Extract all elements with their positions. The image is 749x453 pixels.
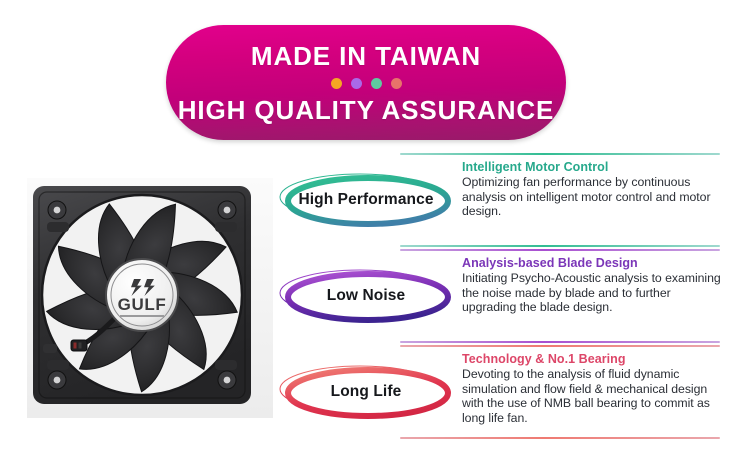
dot-teal-icon xyxy=(371,78,382,89)
badge-ellipse-icon xyxy=(278,171,454,229)
card-divider-top xyxy=(400,345,720,347)
feature-heading: Intelligent Motor Control xyxy=(462,160,726,174)
fan-illustration: GULF xyxy=(27,178,273,418)
product-fan-image: GULF xyxy=(27,178,273,418)
feature-body: Optimizing fan performance by continuous… xyxy=(462,175,726,219)
feature-copy: Analysis-based Blade Design Initiating P… xyxy=(462,256,726,315)
feature-copy: Technology & No.1 Bearing Devoting to th… xyxy=(462,352,726,425)
feature-heading: Analysis-based Blade Design xyxy=(462,256,726,270)
feature-card: High Performance Intelligent Motor Contr… xyxy=(278,153,730,249)
dot-amber-icon xyxy=(331,78,342,89)
feature-body: Devoting to the analysis of fluid dynami… xyxy=(462,367,726,425)
feature-heading: Technology & No.1 Bearing xyxy=(462,352,726,366)
feature-card-list: High Performance Intelligent Motor Contr… xyxy=(278,153,730,445)
card-divider-top xyxy=(400,249,720,251)
card-divider-bottom xyxy=(400,437,720,439)
card-divider-bottom xyxy=(400,341,720,343)
feature-badge[interactable]: Low Noise xyxy=(278,267,454,325)
poster-canvas: MADE IN TAIWAN HIGH QUALITY ASSURANCE xyxy=(0,0,749,453)
dot-salmon-icon xyxy=(391,78,402,89)
banner-dot-row xyxy=(331,78,402,89)
feature-card: Long Life Technology & No.1 Bearing Devo… xyxy=(278,345,730,441)
feature-card: Low Noise Analysis-based Blade Design In… xyxy=(278,249,730,345)
fan-brand-text: GULF xyxy=(118,295,167,314)
feature-body: Initiating Psycho-Acoustic analysis to e… xyxy=(462,271,726,315)
feature-badge[interactable]: High Performance xyxy=(278,171,454,229)
banner-headline-secondary: HIGH QUALITY ASSURANCE xyxy=(178,95,555,125)
feature-badge[interactable]: Long Life xyxy=(278,363,454,421)
banner-headline-primary: MADE IN TAIWAN xyxy=(251,41,481,71)
fan-hub-label: GULF xyxy=(106,259,178,331)
card-divider-top xyxy=(400,153,720,155)
badge-ellipse-icon xyxy=(278,363,454,421)
badge-ellipse-icon xyxy=(278,267,454,325)
card-divider-bottom xyxy=(400,245,720,247)
feature-copy: Intelligent Motor Control Optimizing fan… xyxy=(462,160,726,219)
dot-purple-icon xyxy=(351,78,362,89)
made-in-taiwan-banner: MADE IN TAIWAN HIGH QUALITY ASSURANCE xyxy=(166,25,566,140)
